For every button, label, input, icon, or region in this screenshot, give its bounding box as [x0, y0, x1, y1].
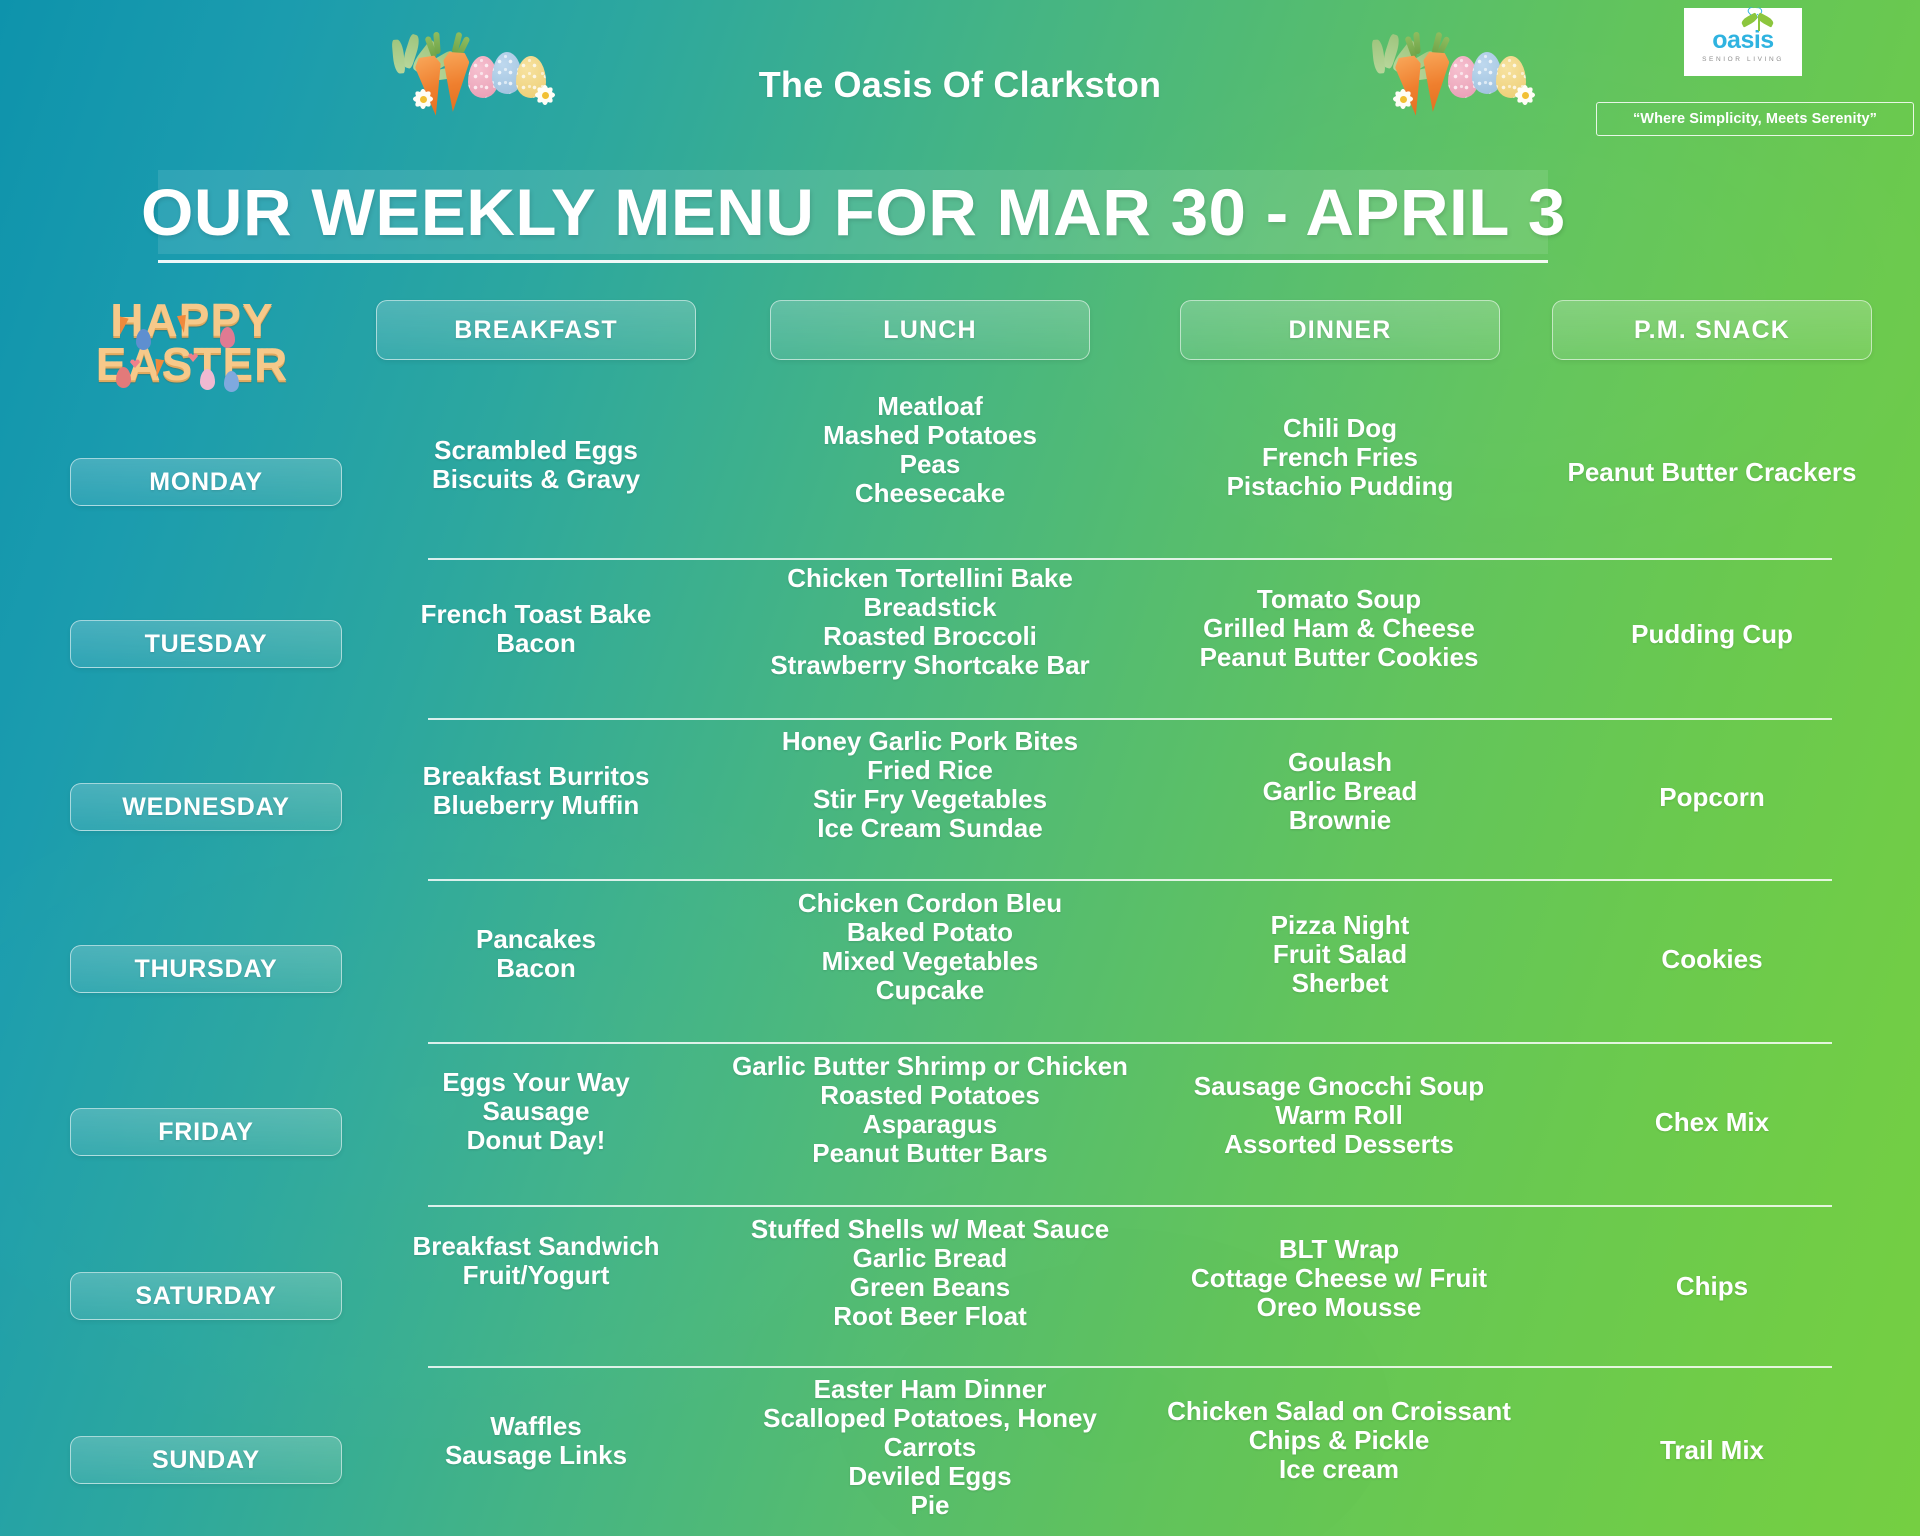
menu-item: Fruit Salad	[1180, 940, 1500, 969]
menu-cell-monday-breakfast: Scrambled EggsBiscuits & Gravy	[376, 436, 696, 494]
brand-tagline: “Where Simplicity, Meets Serenity”	[1596, 102, 1914, 136]
happy-easter-graphic: HAPPY EASTER	[92, 295, 292, 389]
menu-item: Waffles	[376, 1412, 696, 1441]
day-label-thursday: THURSDAY	[70, 945, 342, 993]
row-divider	[428, 879, 1832, 881]
logo-wordmark: oasis	[1712, 28, 1773, 53]
menu-item: Chex Mix	[1552, 1108, 1872, 1137]
menu-cell-sunday-snack: Trail Mix	[1552, 1436, 1872, 1465]
menu-item: Cheesecake	[770, 479, 1090, 508]
menu-item: Breadstick	[736, 593, 1124, 622]
menu-item: Pistachio Pudding	[1180, 472, 1500, 501]
menu-cell-wednesday-snack: Popcorn	[1552, 783, 1872, 812]
menu-item: Stir Fry Vegetables	[744, 785, 1116, 814]
menu-cell-tuesday-dinner: Tomato SoupGrilled Ham & CheesePeanut Bu…	[1164, 585, 1514, 672]
menu-item: Scrambled Eggs	[376, 436, 696, 465]
row-divider	[428, 718, 1832, 720]
menu-cell-wednesday-breakfast: Breakfast BurritosBlueberry Muffin	[376, 762, 696, 820]
row-divider	[428, 1042, 1832, 1044]
menu-cell-friday-lunch: Garlic Butter Shrimp or ChickenRoasted P…	[696, 1052, 1164, 1168]
menu-cell-wednesday-dinner: GoulashGarlic BreadBrownie	[1180, 748, 1500, 835]
menu-item: Easter Ham Dinner	[722, 1375, 1138, 1404]
menu-item: Chicken Salad on Croissant	[1140, 1397, 1538, 1426]
menu-item: Biscuits & Gravy	[376, 465, 696, 494]
menu-item: Peanut Butter Cookies	[1164, 643, 1514, 672]
menu-cell-friday-dinner: Sausage Gnocchi SoupWarm RollAssorted De…	[1164, 1072, 1514, 1159]
menu-item: Pancakes	[376, 925, 696, 954]
menu-item: Scalloped Potatoes, Honey	[722, 1404, 1138, 1433]
menu-cell-friday-snack: Chex Mix	[1552, 1108, 1872, 1137]
menu-item: Tomato Soup	[1164, 585, 1514, 614]
menu-cell-wednesday-lunch: Honey Garlic Pork BitesFried RiceStir Fr…	[744, 727, 1116, 843]
day-label-wednesday: WEDNESDAY	[70, 783, 342, 831]
row-divider	[428, 558, 1832, 560]
menu-item: Peanut Butter Bars	[696, 1139, 1164, 1168]
daisy-flower-icon	[1514, 84, 1536, 106]
daisy-flower-icon	[534, 84, 556, 106]
menu-item: Roasted Potatoes	[696, 1081, 1164, 1110]
menu-item: Chicken Cordon Bleu	[756, 889, 1104, 918]
menu-item: Brownie	[1180, 806, 1500, 835]
menu-item: Fruit/Yogurt	[364, 1261, 708, 1290]
menu-item: Garlic Bread	[714, 1244, 1146, 1273]
row-divider	[428, 1366, 1832, 1368]
menu-item: Warm Roll	[1164, 1101, 1514, 1130]
daisy-flower-icon	[412, 88, 434, 110]
menu-title-banner: OUR WEEKLY MENU FOR MAR 30 - APRIL 3	[158, 170, 1548, 254]
menu-item: Cupcake	[756, 976, 1104, 1005]
menu-item: Peanut Butter Crackers	[1506, 458, 1918, 487]
happy-easter-line1: HAPPY	[110, 300, 273, 340]
menu-item: Mixed Vegetables	[756, 947, 1104, 976]
menu-item: Chips & Pickle	[1140, 1426, 1538, 1455]
menu-item: BLT Wrap	[1152, 1235, 1526, 1264]
menu-item: Chili Dog	[1180, 414, 1500, 443]
day-label-monday: MONDAY	[70, 458, 342, 506]
menu-item: Mashed Potatoes	[770, 421, 1090, 450]
menu-item: Goulash	[1180, 748, 1500, 777]
menu-item: Popcorn	[1552, 783, 1872, 812]
brand-title: The Oasis Of Clarkston	[560, 64, 1360, 106]
menu-item: Breakfast Sandwich	[364, 1232, 708, 1261]
menu-item: Pudding Cup	[1552, 620, 1872, 649]
menu-cell-saturday-breakfast: Breakfast SandwichFruit/Yogurt	[364, 1232, 708, 1290]
menu-item: Blueberry Muffin	[376, 791, 696, 820]
menu-cell-saturday-snack: Chips	[1552, 1272, 1872, 1301]
menu-item: Pie	[722, 1491, 1138, 1520]
menu-cell-thursday-snack: Cookies	[1552, 945, 1872, 974]
menu-cell-thursday-dinner: Pizza NightFruit SaladSherbet	[1180, 911, 1500, 998]
menu-item: French Toast Bake	[376, 600, 696, 629]
menu-cell-sunday-breakfast: WafflesSausage Links	[376, 1412, 696, 1470]
day-label-tuesday: TUESDAY	[70, 620, 342, 668]
menu-item: Garlic Butter Shrimp or Chicken	[696, 1052, 1164, 1081]
menu-item: Deviled Eggs	[722, 1462, 1138, 1491]
menu-item: Eggs Your Way	[376, 1068, 696, 1097]
menu-item: Bacon	[376, 629, 696, 658]
menu-item: Stuffed Shells w/ Meat Sauce	[714, 1215, 1146, 1244]
column-header-breakfast: BREAKFAST	[376, 300, 696, 360]
menu-item: Green Beans	[714, 1273, 1146, 1302]
menu-cell-monday-lunch: MeatloafMashed PotatoesPeasCheesecake	[770, 392, 1090, 508]
menu-item: Chicken Tortellini Bake	[736, 564, 1124, 593]
title-underline-rule	[158, 260, 1548, 263]
menu-item: Baked Potato	[756, 918, 1104, 947]
menu-cell-monday-dinner: Chili DogFrench FriesPistachio Pudding	[1180, 414, 1500, 501]
menu-item: Assorted Desserts	[1164, 1130, 1514, 1159]
menu-item: Peas	[770, 450, 1090, 479]
menu-item: Roasted Broccoli	[736, 622, 1124, 651]
sprout-heart-icon	[1742, 5, 1776, 31]
menu-item: Donut Day!	[376, 1126, 696, 1155]
page-title: OUR WEEKLY MENU FOR MAR 30 - APRIL 3	[141, 174, 1566, 250]
menu-item: Pizza Night	[1180, 911, 1500, 940]
menu-item: Ice cream	[1140, 1455, 1538, 1484]
menu-cell-tuesday-breakfast: French Toast BakeBacon	[376, 600, 696, 658]
menu-item: Sausage Links	[376, 1441, 696, 1470]
page-header: The Oasis Of Clarkston oasis SENIOR LIVI…	[0, 0, 1920, 148]
row-divider	[428, 1205, 1832, 1207]
menu-item: Honey Garlic Pork Bites	[744, 727, 1116, 756]
menu-cell-thursday-lunch: Chicken Cordon BleuBaked PotatoMixed Veg…	[756, 889, 1104, 1005]
menu-cell-saturday-lunch: Stuffed Shells w/ Meat SauceGarlic Bread…	[714, 1215, 1146, 1331]
logo-subtitle: SENIOR LIVING	[1702, 56, 1784, 63]
menu-item: Sausage Gnocchi Soup	[1164, 1072, 1514, 1101]
menu-item: Trail Mix	[1552, 1436, 1872, 1465]
menu-cell-tuesday-snack: Pudding Cup	[1552, 620, 1872, 649]
menu-item: Grilled Ham & Cheese	[1164, 614, 1514, 643]
day-label-saturday: SATURDAY	[70, 1272, 342, 1320]
easter-carrot-eggs-decoration-right	[1352, 22, 1552, 118]
oasis-senior-living-logo: oasis SENIOR LIVING	[1684, 8, 1802, 76]
menu-cell-friday-breakfast: Eggs Your WaySausageDonut Day!	[376, 1068, 696, 1155]
menu-cell-thursday-breakfast: PancakesBacon	[376, 925, 696, 983]
menu-item: Sausage	[376, 1097, 696, 1126]
menu-item: Chips	[1552, 1272, 1872, 1301]
menu-item: Ice Cream Sundae	[744, 814, 1116, 843]
easter-carrot-eggs-decoration-left	[372, 22, 572, 118]
menu-item: Meatloaf	[770, 392, 1090, 421]
day-label-friday: FRIDAY	[70, 1108, 342, 1156]
menu-item: Bacon	[376, 954, 696, 983]
menu-item: Asparagus	[696, 1110, 1164, 1139]
menu-item: Fried Rice	[744, 756, 1116, 785]
menu-item: Sherbet	[1180, 969, 1500, 998]
menu-cell-sunday-lunch: Easter Ham DinnerScalloped Potatoes, Hon…	[722, 1375, 1138, 1521]
menu-item: Oreo Mousse	[1152, 1293, 1526, 1322]
menu-item: French Fries	[1180, 443, 1500, 472]
menu-item: Breakfast Burritos	[376, 762, 696, 791]
menu-cell-monday-snack: Peanut Butter Crackers	[1506, 458, 1918, 487]
column-header-lunch: LUNCH	[770, 300, 1090, 360]
menu-item: Strawberry Shortcake Bar	[736, 651, 1124, 680]
menu-cell-tuesday-lunch: Chicken Tortellini BakeBreadstickRoasted…	[736, 564, 1124, 680]
menu-cell-sunday-dinner: Chicken Salad on CroissantChips & Pickle…	[1140, 1397, 1538, 1484]
menu-cell-saturday-dinner: BLT WrapCottage Cheese w/ FruitOreo Mous…	[1152, 1235, 1526, 1322]
menu-item: Cookies	[1552, 945, 1872, 974]
menu-item: Root Beer Float	[714, 1302, 1146, 1331]
menu-item: Garlic Bread	[1180, 777, 1500, 806]
column-header-pm-snack: P.M. SNACK	[1552, 300, 1872, 360]
day-label-sunday: SUNDAY	[70, 1436, 342, 1484]
menu-item: Cottage Cheese w/ Fruit	[1152, 1264, 1526, 1293]
daisy-flower-icon	[1392, 88, 1414, 110]
column-header-dinner: DINNER	[1180, 300, 1500, 360]
menu-item: Carrots	[722, 1433, 1138, 1462]
